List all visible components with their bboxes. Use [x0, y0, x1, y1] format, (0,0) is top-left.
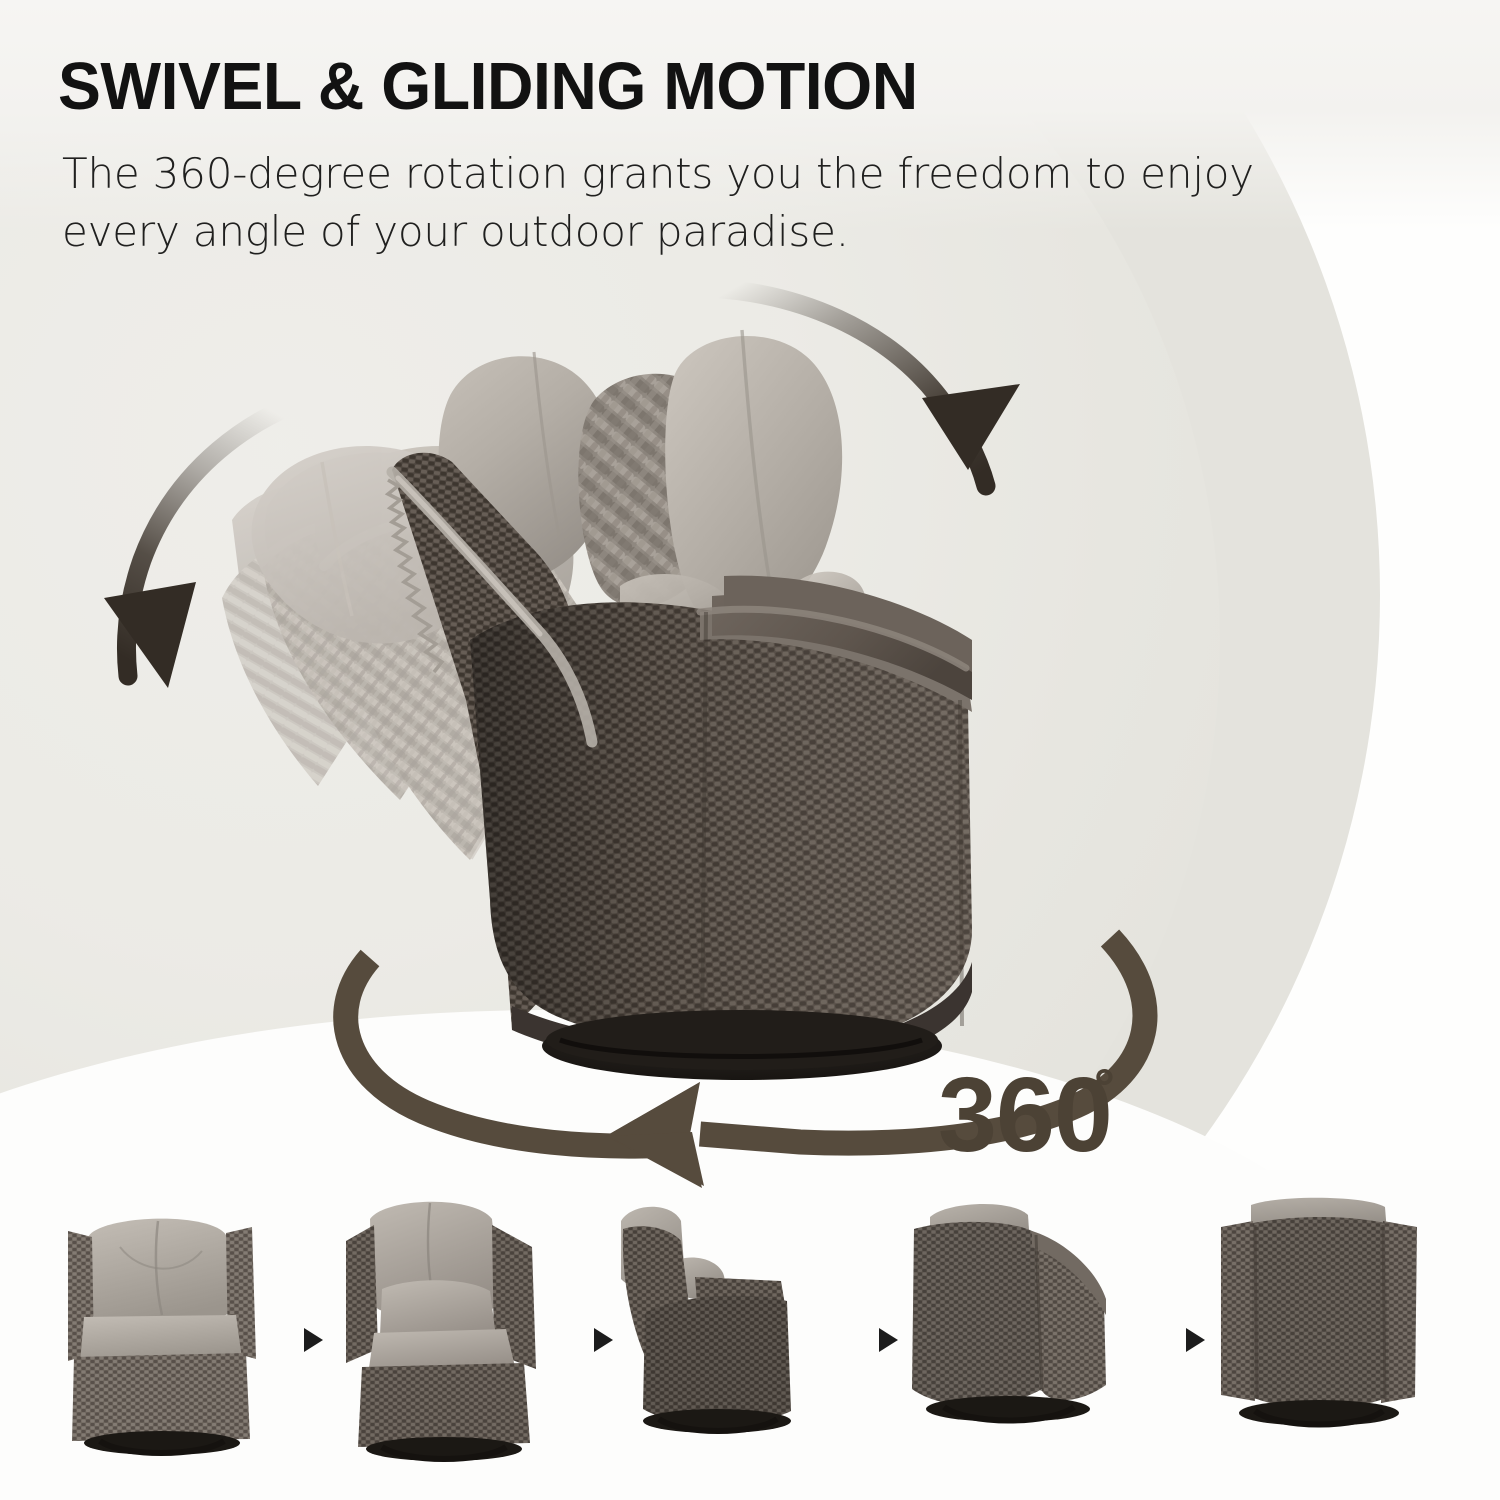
chair-side-view[interactable]: [615, 1185, 865, 1485]
chair-back-view[interactable]: [1205, 1185, 1455, 1485]
triangle-right-icon: [590, 1325, 616, 1355]
chair-three-quarter-view[interactable]: [330, 1185, 580, 1485]
sequence-separator-2: [590, 1325, 616, 1355]
page-subtitle: The 360-degree rotation grants you the f…: [62, 145, 1382, 261]
chair-view-sequence: [0, 1185, 1500, 1485]
chair-rear-three-quarter-view[interactable]: [900, 1185, 1150, 1485]
page-title: SWIVEL & GLIDING MOTION: [58, 52, 918, 122]
product-feature-panel: SWIVEL & GLIDING MOTION The 360-degree r…: [0, 0, 1500, 1500]
sequence-separator-1: [300, 1325, 326, 1355]
triangle-right-icon: [300, 1325, 326, 1355]
triangle-right-icon: [875, 1325, 901, 1355]
subtitle-line-2: every angle of your outdoor paradise.: [62, 203, 1382, 261]
sequence-separator-3: [875, 1325, 901, 1355]
rotation-degrees-value: 360: [938, 1062, 1112, 1168]
chair-front-view[interactable]: [50, 1185, 300, 1485]
degree-symbol-icon: °: [1094, 1062, 1115, 1114]
subtitle-line-1: The 360-degree rotation grants you the f…: [62, 145, 1382, 203]
